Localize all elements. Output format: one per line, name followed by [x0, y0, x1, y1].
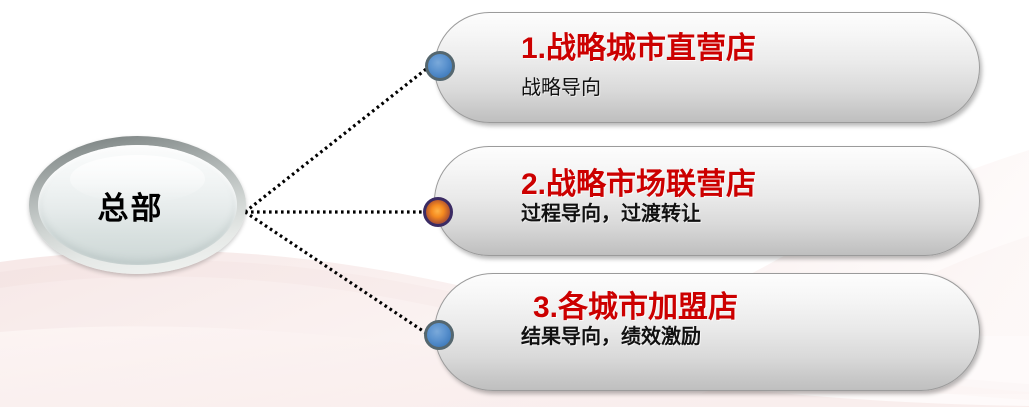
- node-box-3[interactable]: 3.各城市加盟店 结果导向，绩效激励: [434, 273, 980, 391]
- node-2-title: 2.战略市场联营店: [521, 169, 955, 201]
- node-1-title: 1.战略城市直营店: [521, 33, 955, 65]
- hub-label: 总部: [29, 136, 246, 274]
- blue-dot-icon: [424, 320, 454, 350]
- node-2-subtitle: 过程导向，过渡转让: [521, 203, 955, 226]
- blue-dot-icon: [425, 51, 455, 81]
- node-1-text-group: 1.战略城市直营店 战略导向: [521, 33, 955, 100]
- node-3-text-group: 3.各城市加盟店 结果导向，绩效激励: [521, 292, 955, 349]
- connector-line-3: [245, 212, 429, 335]
- hub-node[interactable]: 总部: [29, 136, 246, 274]
- node-3-subtitle: 结果导向，绩效激励: [521, 326, 955, 349]
- orange-dot-icon: [423, 197, 453, 227]
- connector-line-1: [245, 66, 430, 212]
- node-3-title: 3.各城市加盟店: [521, 292, 955, 324]
- node-1-subtitle: 战略导向: [521, 77, 955, 100]
- node-box-1[interactable]: 1.战略城市直营店 战略导向: [434, 12, 980, 123]
- node-box-2[interactable]: 2.战略市场联营店 过程导向，过渡转让: [434, 146, 980, 256]
- node-2-text-group: 2.战略市场联营店 过程导向，过渡转让: [521, 169, 955, 226]
- slide-canvas: 总部 1.战略城市直营店 战略导向 2.战略市场联营店 过程导向，过渡转让 3.…: [0, 0, 1029, 407]
